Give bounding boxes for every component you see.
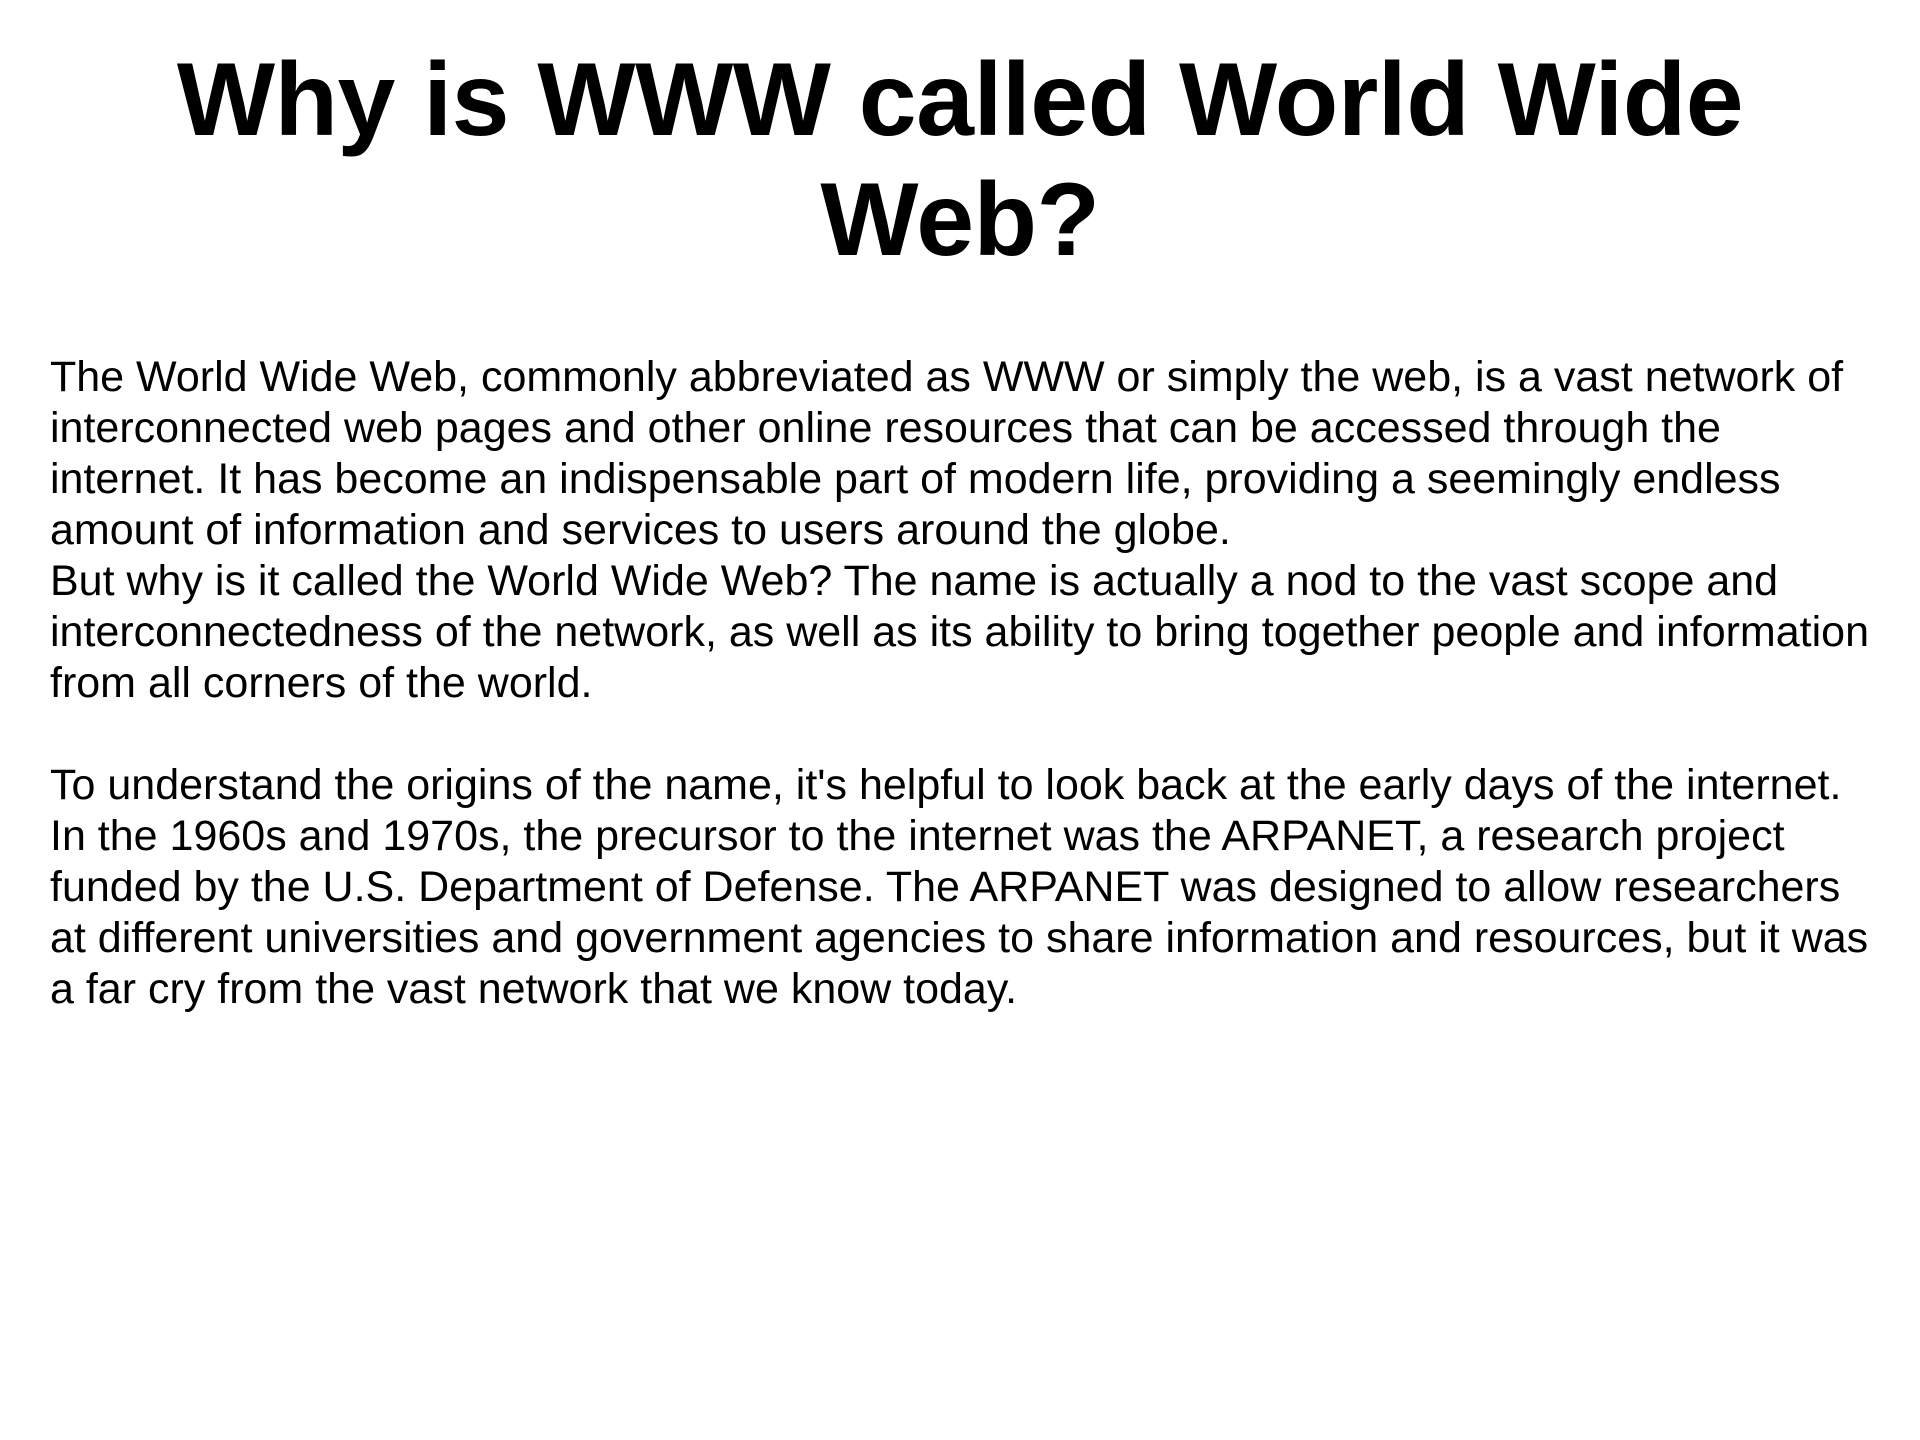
slide-body: The World Wide Web, commonly abbreviated… [50,352,1880,1015]
body-paragraph-2: But why is it called the World Wide Web?… [50,556,1880,709]
paragraph-spacer [50,709,1880,760]
body-paragraph-3: To understand the origins of the name, i… [50,760,1880,1015]
slide-title: Why is WWW called World Wide Web? [120,40,1800,280]
body-paragraph-1: The World Wide Web, commonly abbreviated… [50,352,1880,556]
presentation-slide: Why is WWW called World Wide Web? The Wo… [0,0,1920,1440]
